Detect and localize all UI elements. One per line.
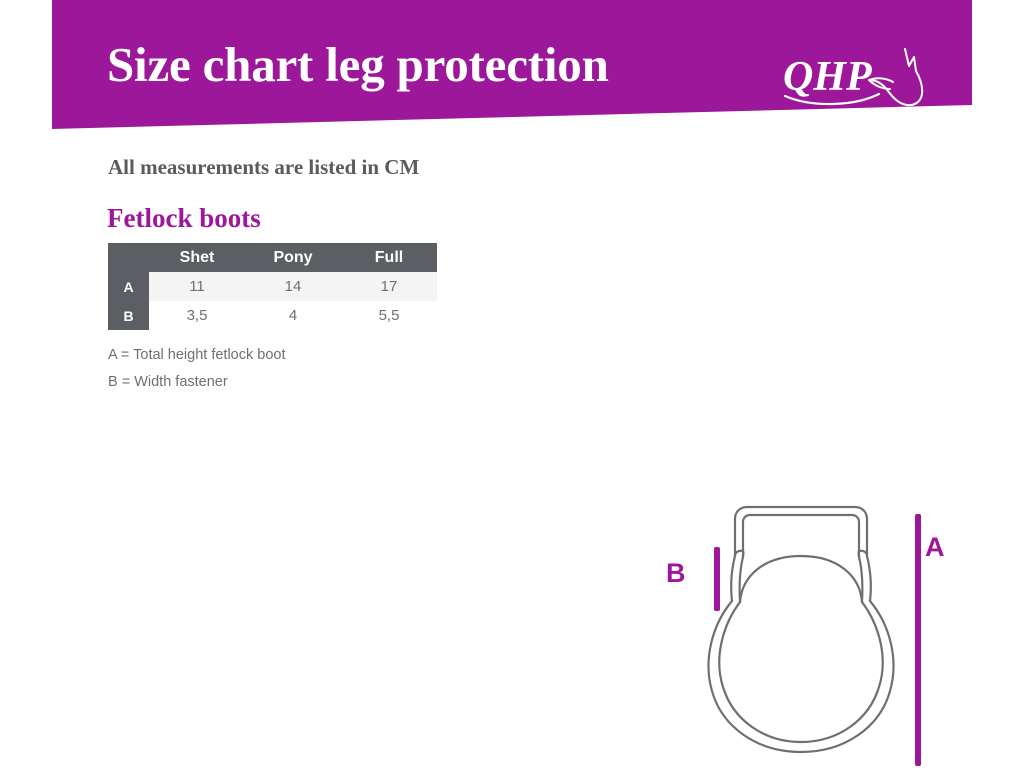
legend: A = Total height fetlock boot B = Width … xyxy=(108,342,508,396)
fetlock-boot-diagram xyxy=(640,480,1000,768)
table-row: A 11 14 17 xyxy=(108,272,437,301)
cell-a-pony: 14 xyxy=(245,272,341,301)
dimension-label-b: B xyxy=(666,558,686,589)
table-header: Shet Pony Full xyxy=(108,243,437,272)
table-header-row: Shet Pony Full xyxy=(108,243,437,272)
dimension-label-a: A xyxy=(925,532,945,563)
column-header-full: Full xyxy=(341,243,437,272)
dimension-line-a xyxy=(915,514,921,766)
cell-a-shet: 11 xyxy=(149,272,245,301)
table-body: A 11 14 17 B 3,5 4 5,5 xyxy=(108,272,437,330)
row-label-a: A xyxy=(108,272,149,301)
legend-item-b: B = Width fastener xyxy=(108,369,508,396)
column-header-shet: Shet xyxy=(149,243,245,272)
row-label-b: B xyxy=(108,301,149,330)
header-banner: Size chart leg protection QHP xyxy=(0,0,1024,140)
size-table: Shet Pony Full A 11 14 17 B 3,5 4 5,5 xyxy=(108,243,437,330)
cell-b-pony: 4 xyxy=(245,301,341,330)
cell-a-full: 17 xyxy=(341,272,437,301)
legend-item-a: A = Total height fetlock boot xyxy=(108,342,508,369)
qhp-logo: QHP xyxy=(783,44,943,114)
page-title: Size chart leg protection xyxy=(107,40,609,89)
svg-text:QHP: QHP xyxy=(783,54,872,100)
column-header-pony: Pony xyxy=(245,243,341,272)
cell-b-shet: 3,5 xyxy=(149,301,245,330)
section-title-fetlock-boots: Fetlock boots xyxy=(107,203,261,234)
measurement-units-note: All measurements are listed in CM xyxy=(108,155,419,180)
table-corner-cell xyxy=(108,243,149,272)
size-chart-page: Size chart leg protection QHP All measur… xyxy=(0,0,1024,768)
dimension-line-b xyxy=(714,547,720,611)
table-row: B 3,5 4 5,5 xyxy=(108,301,437,330)
cell-b-full: 5,5 xyxy=(341,301,437,330)
